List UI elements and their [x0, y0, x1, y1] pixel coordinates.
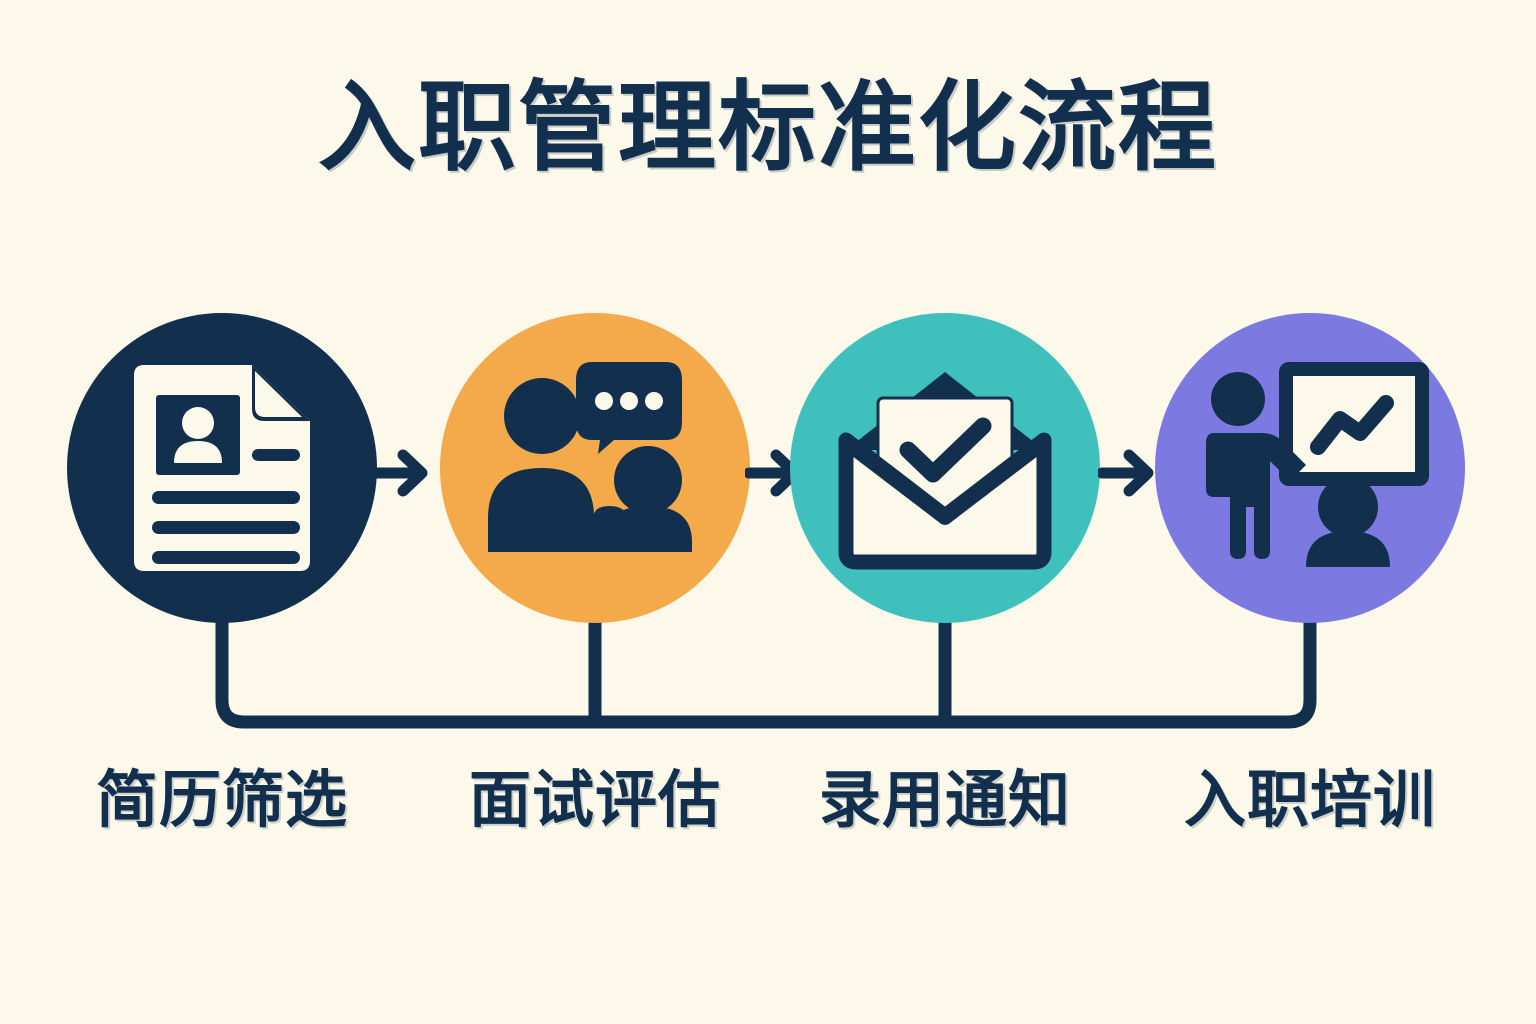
- step-circle-1[interactable]: [67, 313, 377, 623]
- step-label-1: 简历筛选: [12, 770, 432, 832]
- arrow-right-icon-1: [372, 442, 434, 504]
- page-title: 入职管理标准化流程: [0, 78, 1536, 176]
- step-circle-2[interactable]: [440, 313, 750, 623]
- offer-envelope-check-icon: [838, 366, 1053, 571]
- step-circle-3[interactable]: [790, 313, 1100, 623]
- resume-document-icon: [122, 363, 322, 573]
- step-label-3: 录用通知: [735, 770, 1155, 832]
- step-circle-4[interactable]: [1155, 313, 1465, 623]
- training-presentation-icon: [1190, 361, 1430, 576]
- interview-people-chat-icon: [480, 356, 710, 581]
- step-label-4: 入职培训: [1100, 770, 1520, 832]
- infographic-canvas: 入职管理标准化流程: [0, 0, 1536, 1024]
- arrow-right-icon-3: [1098, 442, 1160, 504]
